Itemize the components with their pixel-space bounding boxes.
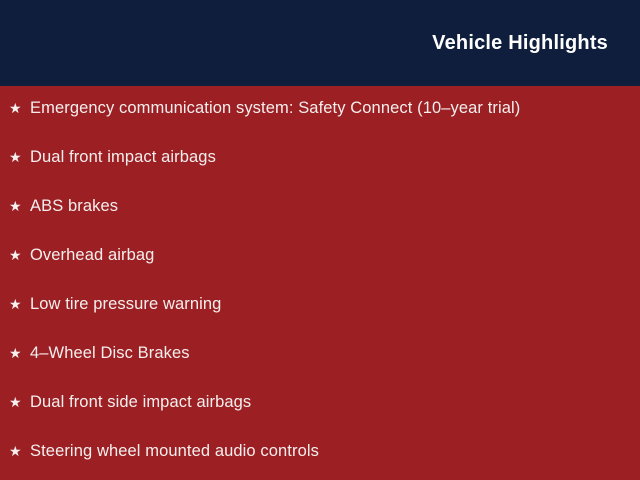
list-item: ★ ABS brakes (0, 198, 640, 247)
list-item-label: 4–Wheel Disc Brakes (30, 345, 190, 362)
list-item-label: Emergency communication system: Safety C… (30, 100, 520, 117)
star-bullet-icon: ★ (9, 346, 30, 360)
star-bullet-icon: ★ (9, 444, 30, 458)
list-item: ★ Low tire pressure warning (0, 296, 640, 345)
slide-body: ★ Emergency communication system: Safety… (0, 86, 640, 480)
star-bullet-icon: ★ (9, 248, 30, 262)
list-item-label: Low tire pressure warning (30, 296, 221, 313)
page-title: Vehicle Highlights (432, 33, 608, 53)
star-bullet-icon: ★ (9, 395, 30, 409)
star-bullet-icon: ★ (9, 101, 30, 115)
vehicle-highlights-list: ★ Emergency communication system: Safety… (0, 100, 640, 480)
star-bullet-icon: ★ (9, 150, 30, 164)
list-item: ★ Steering wheel mounted audio controls (0, 443, 640, 480)
list-item: ★ Dual front side impact airbags (0, 394, 640, 443)
list-item-label: Dual front impact airbags (30, 149, 216, 166)
list-item-label: Steering wheel mounted audio controls (30, 443, 319, 460)
list-item: ★ Dual front impact airbags (0, 149, 640, 198)
slide-header: Vehicle Highlights (0, 0, 640, 86)
star-bullet-icon: ★ (9, 199, 30, 213)
list-item: ★ Overhead airbag (0, 247, 640, 296)
list-item-label: Overhead airbag (30, 247, 154, 264)
star-bullet-icon: ★ (9, 297, 30, 311)
vehicle-highlights-slide: Vehicle Highlights ★ Emergency communica… (0, 0, 640, 480)
list-item: ★ Emergency communication system: Safety… (0, 100, 640, 149)
list-item-label: Dual front side impact airbags (30, 394, 251, 411)
list-item-label: ABS brakes (30, 198, 118, 215)
list-item: ★ 4–Wheel Disc Brakes (0, 345, 640, 394)
